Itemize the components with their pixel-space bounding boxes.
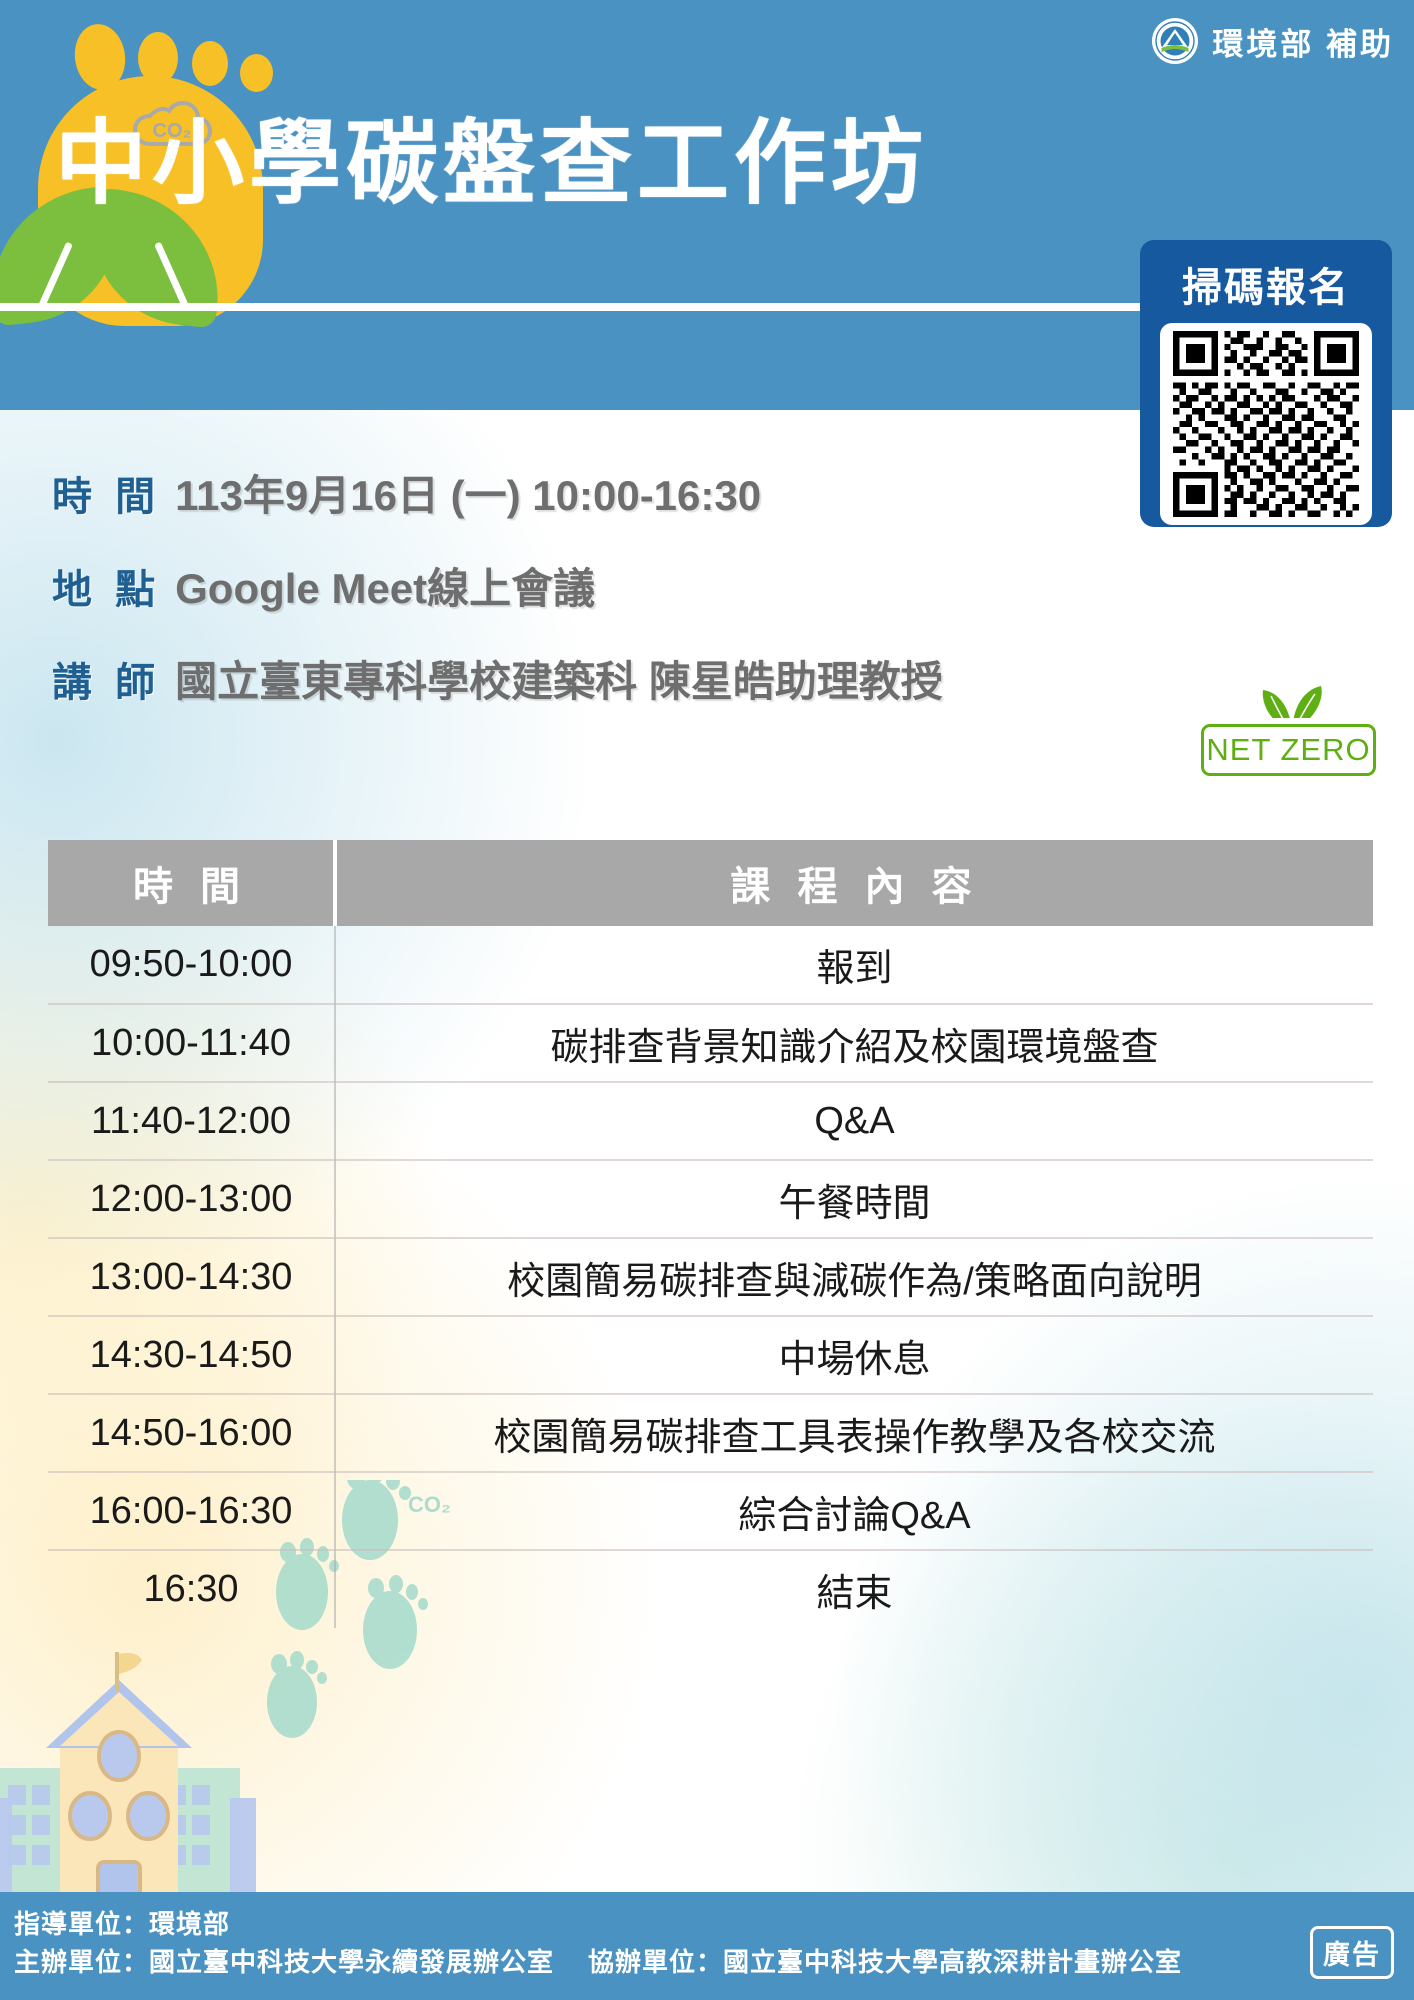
- qr-code-icon[interactable]: [1160, 323, 1372, 525]
- table-header-row: 時 間 課 程 內 容: [48, 840, 1373, 926]
- ad-badge: 廣告: [1310, 1926, 1394, 1979]
- header-divider: [0, 303, 1205, 311]
- qr-card-title: 掃碼報名: [1182, 255, 1350, 313]
- cell-topic: 報到: [335, 926, 1373, 1004]
- footer-bar: 指導單位：環境部 主辦單位：國立臺中科技大學永續發展辦公室 協辦單位：國立臺中科…: [0, 1892, 1414, 2000]
- ministry-logo-group: 環境部 補助: [1152, 18, 1394, 64]
- cell-topic: 校園簡易碳排查工具表操作教學及各校交流: [335, 1394, 1373, 1472]
- table-row: 16:30結束: [48, 1550, 1373, 1628]
- net-zero-frame: NET ZERO: [1201, 724, 1376, 776]
- net-zero-badge: NET ZERO: [1201, 688, 1376, 776]
- cell-topic: 碳排查背景知識介紹及校園環境盤查: [335, 1004, 1373, 1082]
- info-label-instructor: 講 師: [52, 650, 161, 708]
- net-zero-label: NET ZERO: [1206, 732, 1370, 768]
- table-row: 13:00-14:30校園簡易碳排查與減碳作為/策略面向說明: [48, 1238, 1373, 1316]
- footer-guidance-unit: 指導單位：環境部: [14, 1906, 1414, 1944]
- cell-time: 13:00-14:30: [48, 1238, 335, 1316]
- info-row-instructor: 講 師 國立臺東專科學校建築科 陳星皓助理教授: [52, 648, 943, 709]
- school-building-illustration: [0, 1640, 320, 1930]
- info-label-time: 時 間: [52, 464, 161, 522]
- schedule-table-body: 09:50-10:00報到10:00-11:40碳排查背景知識介紹及校園環境盤查…: [48, 926, 1373, 1628]
- cell-topic: 午餐時間: [335, 1160, 1373, 1238]
- table-row: 16:00-16:30綜合討論Q&A: [48, 1472, 1373, 1550]
- info-row-location: 地 點 Google Meet線上會議: [52, 555, 943, 616]
- schedule-table: 時 間 課 程 內 容 09:50-10:00報到10:00-11:40碳排查背…: [48, 840, 1373, 1628]
- cell-time: 16:00-16:30: [48, 1472, 335, 1550]
- schedule-table-wrapper: 時 間 課 程 內 容 09:50-10:00報到10:00-11:40碳排查背…: [48, 840, 1373, 1628]
- table-header-time: 時 間: [48, 840, 335, 926]
- table-row: 11:40-12:00Q&A: [48, 1082, 1373, 1160]
- table-header-topic: 課 程 內 容: [335, 840, 1373, 926]
- ministry-logo-label: 環境部 補助: [1212, 19, 1394, 64]
- page-title: 中小學碳盤查工作坊: [55, 118, 928, 210]
- cell-topic: 中場休息: [335, 1316, 1373, 1394]
- info-label-location: 地 點: [52, 557, 161, 615]
- cell-time: 10:00-11:40: [48, 1004, 335, 1082]
- qr-registration-card[interactable]: 掃碼報名: [1140, 240, 1392, 527]
- footer-coorganizer-unit: 協辦單位：國立臺中科技大學高教深耕計畫辦公室: [588, 1944, 1182, 1982]
- cell-topic: 結束: [335, 1550, 1373, 1628]
- info-row-time: 時 間 113年9月16日 (一) 10:00-16:30: [52, 462, 943, 523]
- cell-time: 14:50-16:00: [48, 1394, 335, 1472]
- cell-time: 14:30-14:50: [48, 1316, 335, 1394]
- cell-topic: 綜合討論Q&A: [335, 1472, 1373, 1550]
- cell-topic: 校園簡易碳排查與減碳作為/策略面向說明: [335, 1238, 1373, 1316]
- footer-host-unit: 主辦單位：國立臺中科技大學永續發展辦公室: [14, 1944, 554, 1982]
- table-row: 14:50-16:00校園簡易碳排查工具表操作教學及各校交流: [48, 1394, 1373, 1472]
- info-value-time: 113年9月16日 (一) 10:00-16:30: [175, 462, 761, 523]
- cell-time: 12:00-13:00: [48, 1160, 335, 1238]
- cell-time: 16:30: [48, 1550, 335, 1628]
- info-value-location: Google Meet線上會議: [175, 555, 595, 616]
- table-row: 12:00-13:00午餐時間: [48, 1160, 1373, 1238]
- cell-time: 09:50-10:00: [48, 926, 335, 1004]
- table-row: 10:00-11:40碳排查背景知識介紹及校園環境盤查: [48, 1004, 1373, 1082]
- table-row: 14:30-14:50中場休息: [48, 1316, 1373, 1394]
- info-value-instructor: 國立臺東專科學校建築科 陳星皓助理教授: [175, 648, 943, 709]
- ministry-of-environment-logo-icon: [1152, 18, 1198, 64]
- cell-time: 11:40-12:00: [48, 1082, 335, 1160]
- poster-root: CO₂ 中小學碳盤查工作坊 環境部 補: [0, 0, 1414, 2000]
- table-row: 09:50-10:00報到: [48, 926, 1373, 1004]
- event-info-block: 時 間 113年9月16日 (一) 10:00-16:30 地 點 Google…: [52, 462, 943, 741]
- cell-topic: Q&A: [335, 1082, 1373, 1160]
